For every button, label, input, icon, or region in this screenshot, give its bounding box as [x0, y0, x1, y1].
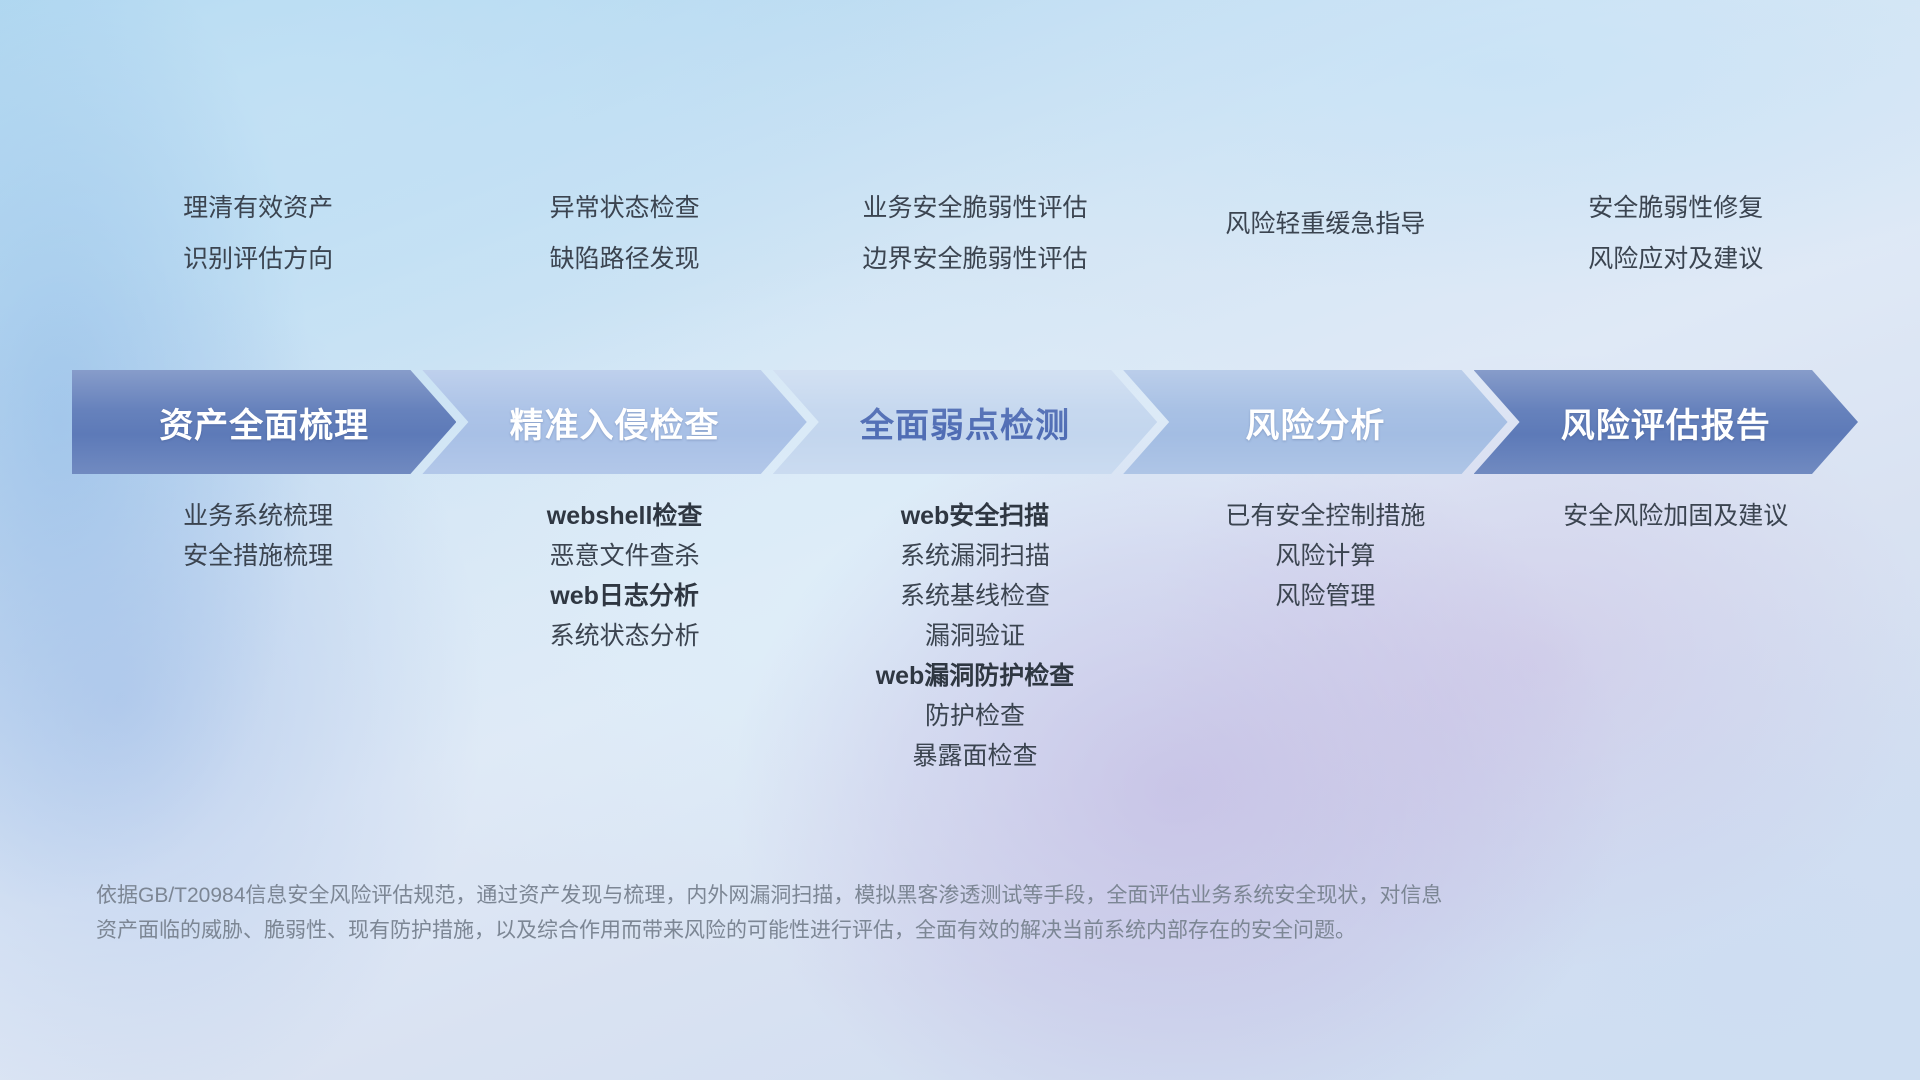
bottom-item: web漏洞防护检查 [765, 664, 1185, 689]
bottom-column-risk-report: 安全风险加固及建议 [1466, 504, 1886, 529]
footer-description: 依据GB/T20984信息安全风险评估规范，通过资产发现与梳理，内外网漏洞扫描，… [96, 878, 1616, 949]
process-chevron-band: 资产全面梳理精准入侵检查全面弱点检测风险分析风险评估报告 [0, 364, 1920, 480]
bottom-item: 风险管理 [1115, 584, 1535, 609]
top-column-asset-inventory: 理清有效资产识别评估方向 [48, 196, 468, 298]
top-item: 识别评估方向 [48, 247, 468, 272]
chevron-label-asset-inventory: 资产全面梳理 [159, 398, 369, 447]
bottom-item: 暴露面检查 [765, 744, 1185, 769]
footer-line-1: 依据GB/T20984信息安全风险评估规范，通过资产发现与梳理，内外网漏洞扫描，… [96, 878, 1616, 913]
top-column-risk-report: 安全脆弱性修复风险应对及建议 [1466, 196, 1886, 298]
slide-canvas: 理清有效资产识别评估方向异常状态检查缺陷路径发现业务安全脆弱性评估边界安全脆弱性… [0, 0, 1920, 1080]
bottom-item: 业务系统梳理 [48, 504, 468, 529]
top-item: 理清有效资产 [48, 196, 468, 221]
chevron-intrusion-check[interactable]: 精准入侵检查 [422, 370, 806, 474]
chevron-risk-analysis[interactable]: 风险分析 [1123, 370, 1507, 474]
bottom-item: 风险计算 [1115, 544, 1535, 569]
bottom-item: 漏洞验证 [765, 624, 1185, 649]
chevron-asset-inventory[interactable]: 资产全面梳理 [72, 370, 456, 474]
chevron-label-risk-report: 风险评估报告 [1561, 398, 1771, 447]
top-item: 风险应对及建议 [1466, 247, 1886, 272]
chevron-risk-report[interactable]: 风险评估报告 [1474, 370, 1858, 474]
chevron-label-intrusion-check: 精准入侵检查 [510, 398, 720, 447]
chevron-label-risk-analysis: 风险分析 [1245, 398, 1385, 447]
bottom-column-asset-inventory: 业务系统梳理安全措施梳理 [48, 504, 468, 569]
bottom-item: 安全措施梳理 [48, 544, 468, 569]
chevron-weakness-detection[interactable]: 全面弱点检测 [773, 370, 1157, 474]
bottom-item: 防护检查 [765, 704, 1185, 729]
bottom-item: 安全风险加固及建议 [1466, 504, 1886, 529]
footer-line-2: 资产面临的威胁、脆弱性、现有防护措施，以及综合作用而带来风险的可能性进行评估，全… [96, 913, 1616, 948]
chevron-label-weakness-detection: 全面弱点检测 [860, 398, 1070, 447]
top-item: 安全脆弱性修复 [1466, 196, 1886, 221]
